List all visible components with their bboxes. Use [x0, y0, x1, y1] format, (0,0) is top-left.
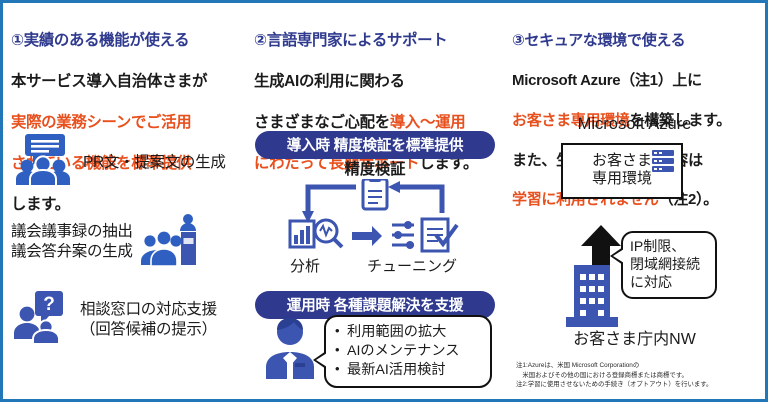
- column-support: ②言語専門家によるサポート 生成AIの利用に関わる さまざまなご心配を導入～運用…: [246, 3, 504, 399]
- column1-title: ①実績のある機能が使える: [11, 32, 189, 49]
- svg-text:?: ?: [43, 294, 55, 315]
- ops-bullet-1: 利用範囲の拡大: [334, 323, 484, 342]
- column2-title: ②言語専門家によるサポート: [254, 32, 447, 49]
- column3-line1: Microsoft Azure（注1）上に: [512, 72, 702, 89]
- azure-label: Microsoft Azure: [504, 115, 765, 134]
- server-stack-icon: [650, 149, 676, 180]
- feature-item-assembly: 議会議事録の抽出 議会答弁案の生成: [11, 211, 201, 272]
- feature-item-support: ? 相談窓口の対応支援 （回答候補の提示）: [13, 289, 217, 350]
- ip-restriction-bubble: IP制限、 閉域網接続 に対応: [621, 231, 717, 299]
- column-security: ③セキュアな環境で使える Microsoft Azure（注1）上に お客さま専…: [504, 3, 765, 399]
- feature-item-pr: PR文・提案文の生成: [13, 133, 226, 192]
- column1-line1: 本サービス導入自治体さまが: [11, 73, 207, 90]
- assembly-podium-icon: [139, 211, 201, 272]
- footnotes: 注1:Azureは、米国 Microsoft Corporationの 米国およ…: [516, 361, 762, 390]
- ip-restriction-text: IP制限、 閉域網接続 に対応: [630, 237, 710, 292]
- ops-bullet-3: 最新AI活用検討: [334, 361, 484, 380]
- tenant-environment-box: お客さま 専用環境: [561, 143, 683, 199]
- column1-line2: 実際の業務シーンでご活用: [11, 114, 191, 131]
- ops-phase-block: 運用時 各種課題解決を支援 利用範囲の拡大 AIのメンテナンス 最新AI活用検討: [246, 127, 504, 397]
- column-features: ①実績のある機能が使える 本サービス導入自治体さまが 実際の業務シーンでご活用 …: [3, 3, 246, 399]
- consultant-person-icon: [261, 317, 319, 384]
- chat-people-icon: [13, 133, 75, 192]
- government-building-icon: [566, 265, 618, 332]
- ops-bullet-2: AIのメンテナンス: [334, 342, 484, 361]
- customer-network-label: お客さま庁内NW: [504, 325, 765, 349]
- infographic-frame: ①実績のある機能が使える 本サービス導入自治体さまが 実際の業務シーンでご活用 …: [0, 0, 768, 402]
- feature-label-support: 相談窓口の対応支援 （回答候補の提示）: [80, 300, 217, 340]
- feature-label-assembly: 議会議事録の抽出 議会答弁案の生成: [11, 222, 133, 262]
- feature-label-pr: PR文・提案文の生成: [83, 153, 226, 173]
- bubble-tail: [313, 351, 326, 369]
- column2-line1: 生成AIの利用に関わる: [254, 73, 405, 90]
- question-people-icon: ?: [13, 289, 73, 350]
- column3-title: ③セキュアな環境で使える: [512, 32, 685, 49]
- bubble-tail-ip: [610, 247, 623, 265]
- ops-bullets-bubble: 利用範囲の拡大 AIのメンテナンス 最新AI活用検討: [324, 315, 492, 388]
